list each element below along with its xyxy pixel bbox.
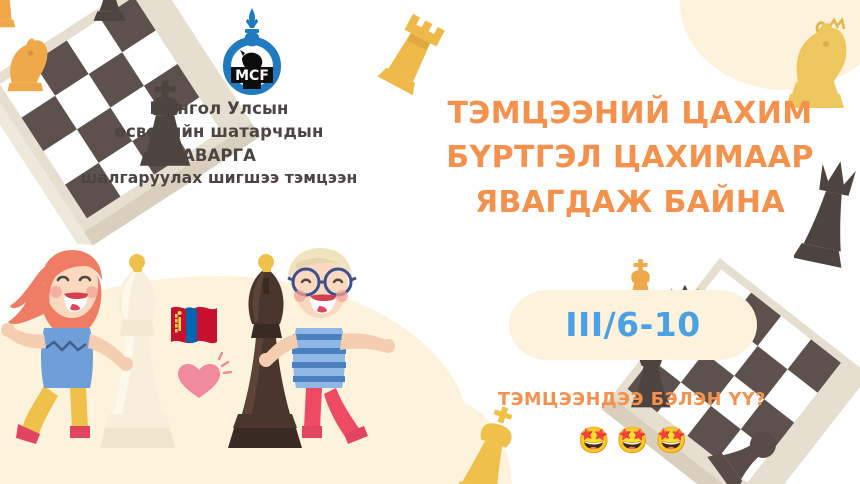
star-struck-emoji-3: 🤩 <box>655 428 686 454</box>
heart-icon <box>178 353 231 398</box>
headline-line-1: ТЭМЦЭЭНИЙ ЦАХИМ <box>412 92 848 136</box>
star-struck-emoji-2: 🤩 <box>616 428 647 454</box>
caption-line-3: АВАРГА <box>58 144 380 167</box>
dark-bishop-piece <box>228 254 302 448</box>
date-badge: III/6-10 <box>509 290 757 360</box>
boy-pants-left <box>304 388 322 428</box>
headline-line-3: ЯВАГДАЖ БАЙНА <box>412 181 848 225</box>
headline: ТЭМЦЭЭНИЙ ЦАХИМ БҮРТГЭЛ ЦАХИМААР ЯВАГДАЖ… <box>412 92 848 225</box>
children-chess-illustration <box>0 236 400 484</box>
mcf-logo-letters: MCF <box>235 68 269 84</box>
star-struck-emoji-1: 🤩 <box>578 428 609 454</box>
caption-line-2: өсвөрийн шатарчдын <box>58 120 380 143</box>
caption-line-1: Монгол Улсын <box>58 97 380 120</box>
caption-line-4: шалгаруулах шигшээ тэмцээн <box>58 167 380 189</box>
girl-shirt <box>41 328 93 388</box>
date-badge-text: III/6-10 <box>565 308 700 341</box>
headline-line-2: БҮРТГЭЛ ЦАХИМААР <box>412 136 848 180</box>
poster-canvas: MCF Монгол Улсын өсвөрийн шатарчдын АВАР… <box>0 0 860 484</box>
rook-gold-top <box>376 6 448 102</box>
boy-shoe-left <box>302 426 322 438</box>
rook-orange-piece <box>0 0 15 27</box>
mongolia-flag <box>171 307 217 343</box>
question-text: ТЭМЦЭЭНДЭЭ БЭЛЭН ҮҮ? <box>440 390 824 410</box>
girl-pants-right <box>70 388 88 428</box>
left-caption: Монгол Улсын өсвөрийн шатарчдын АВАРГА ш… <box>58 97 380 189</box>
emoji-row: 🤩 🤩 🤩 <box>440 428 824 454</box>
mcf-logo: MCF <box>209 6 295 98</box>
boy-arm-right <box>340 333 386 352</box>
girl-shoe-right <box>70 426 90 438</box>
